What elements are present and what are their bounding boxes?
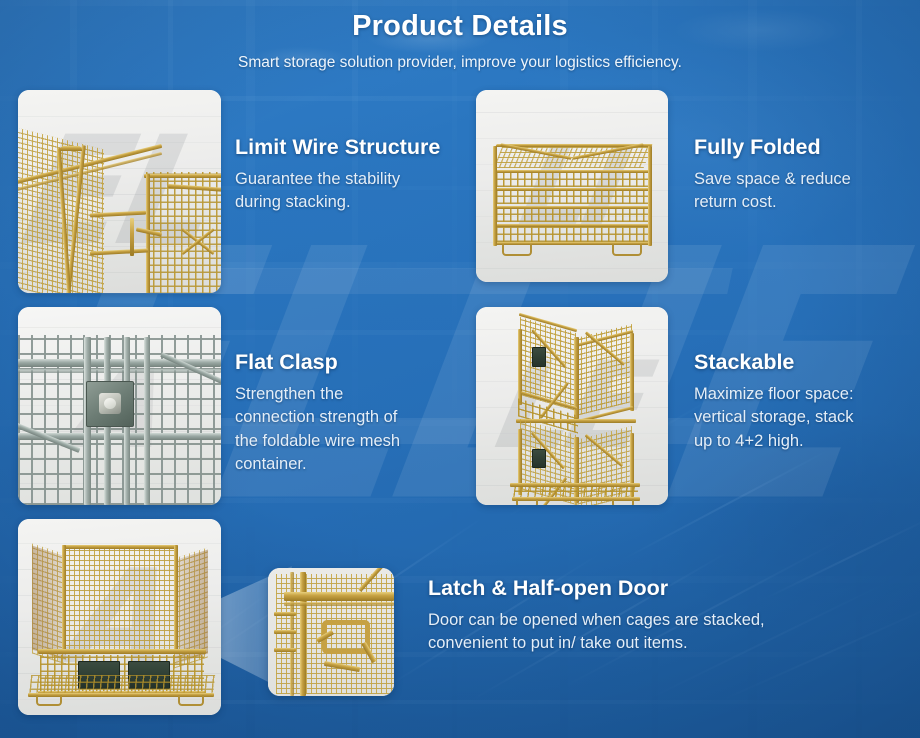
feature-text-limit-wire-structure: Limit Wire Structure Guarantee the stabi… bbox=[235, 135, 475, 215]
page-title: Product Details bbox=[0, 10, 920, 43]
feature-description: Maximize floor space: vertical storage, … bbox=[694, 383, 909, 453]
feature-title: Fully Folded bbox=[694, 135, 904, 160]
latch-handle bbox=[322, 620, 370, 654]
photo-latch-half-open-door: A bbox=[18, 519, 221, 715]
feature-text-stackable: Stackable Maximize floor space: vertical… bbox=[694, 350, 909, 453]
feature-text-flat-clasp: Flat Clasp Strengthen the connection str… bbox=[235, 350, 475, 477]
feature-description: Save space & reduce return cost. bbox=[694, 168, 904, 215]
feature-title: Latch & Half-open Door bbox=[428, 576, 898, 601]
photo-flat-clasp: A bbox=[18, 307, 221, 505]
feature-description: Strengthen the connection strength of th… bbox=[235, 383, 475, 477]
photo-limit-wire-structure: EL bbox=[18, 90, 221, 293]
feature-text-fully-folded: Fully Folded Save space & reduce return … bbox=[694, 135, 904, 215]
photo-fully-folded: LI bbox=[476, 90, 668, 282]
feature-description: Door can be opened when cages are stacke… bbox=[428, 609, 898, 656]
feature-description: Guarantee the stability during stacking. bbox=[235, 168, 475, 215]
page-subtitle: Smart storage solution provider, improve… bbox=[0, 54, 920, 72]
feature-title: Limit Wire Structure bbox=[235, 135, 475, 160]
feature-title: Flat Clasp bbox=[235, 350, 475, 375]
photo-latch-closeup-inset bbox=[268, 568, 394, 696]
header: Product Details Smart storage solution p… bbox=[0, 0, 920, 72]
feature-title: Stackable bbox=[694, 350, 909, 375]
photo-stackable: LE bbox=[476, 307, 668, 505]
feature-text-latch-half-open-door: Latch & Half-open Door Door can be opene… bbox=[428, 576, 898, 656]
